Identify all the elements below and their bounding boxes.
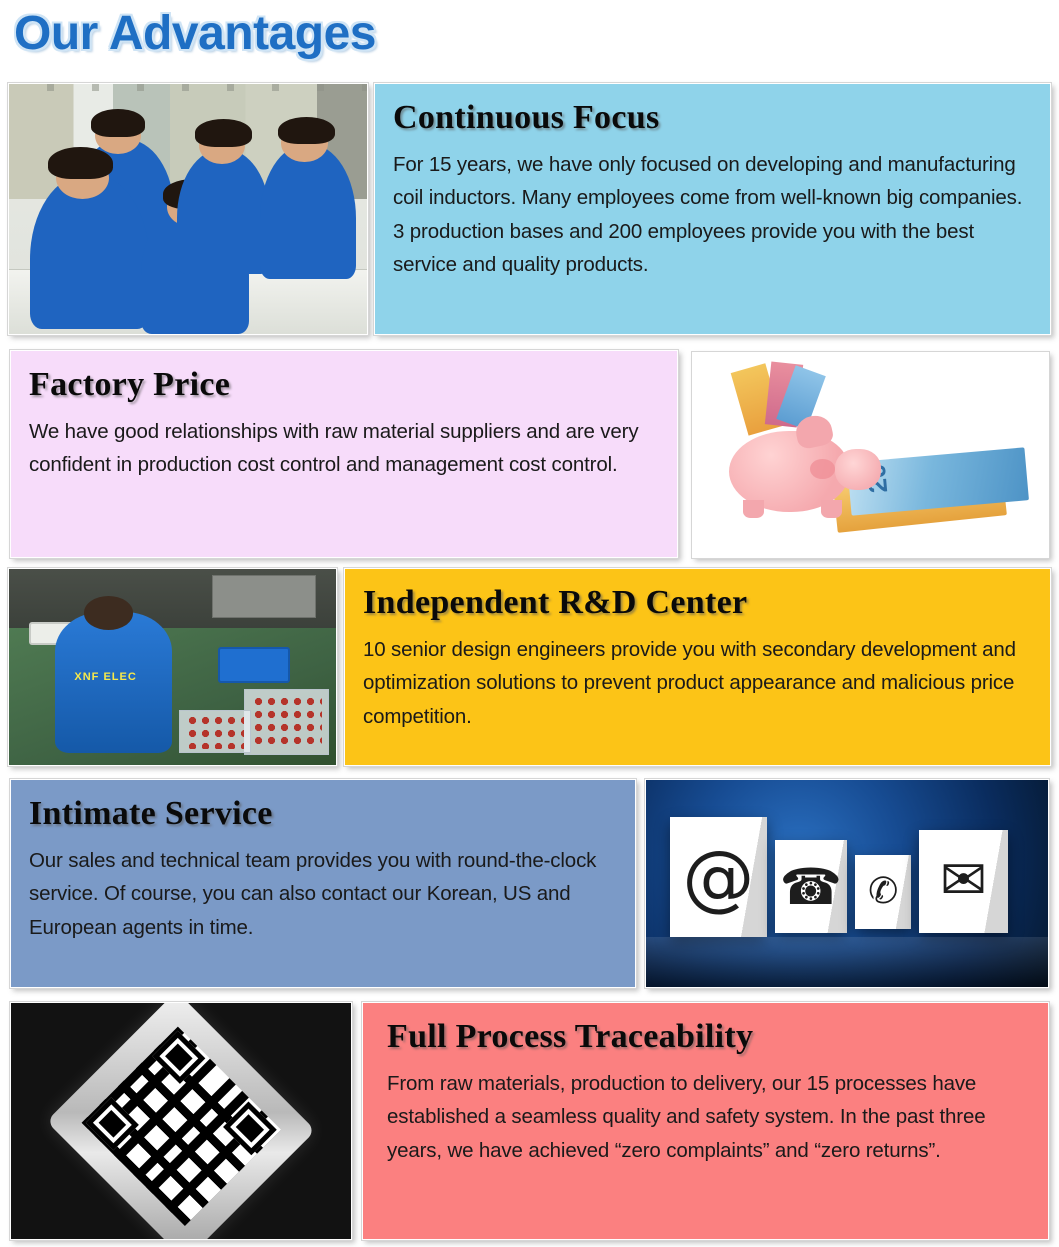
worker-4-hair [195, 119, 252, 147]
worker-5-hair [278, 117, 335, 145]
worker-5 [260, 144, 357, 279]
qr-finder-bottom-left [85, 1096, 139, 1150]
card-title-continuous-focus: Continuous Focus [393, 98, 1032, 138]
card-title-full-process-traceability: Full Process Traceability [387, 1017, 1030, 1057]
at-symbol-cube: @ [670, 817, 766, 937]
card-body-factory-price: We have good relationships with raw mate… [29, 415, 659, 481]
telephone-icon: ☎ [780, 862, 842, 912]
card-body-continuous-focus: For 15 years, we have only focused on de… [393, 148, 1032, 281]
component-tray-right [244, 689, 329, 756]
component-tray-center [179, 710, 251, 753]
mobile-phone-icon: ✆ [868, 874, 898, 910]
blue-parts-bin [218, 647, 290, 682]
team-photo-inner [9, 84, 367, 334]
qr-finder-top-left [152, 1030, 206, 1084]
worker-1-hair [91, 109, 145, 137]
seated-worker-head [84, 596, 133, 629]
card-body-full-process-traceability: From raw materials, production to delive… [387, 1067, 1030, 1167]
uniform-logo: XNF ELEC [74, 671, 136, 683]
metal-shelf [212, 575, 317, 618]
component-dots [252, 695, 322, 749]
at-symbol-icon: @ [682, 841, 754, 913]
qr-finder-top-right [223, 1101, 277, 1155]
qr-photo-inner [11, 1003, 351, 1239]
card-body-independent-rd-center: 10 senior design engineers provide you w… [363, 633, 1032, 733]
contact-icon-cubes: @ ☎ ✆ ✉ [645, 779, 1049, 988]
page-title: Our Advantages [14, 6, 376, 61]
component-dots [186, 714, 245, 749]
factory-team-photo [8, 83, 368, 335]
piggy-bank-with-euro-banknotes: 20 [692, 352, 1049, 558]
card-factory-price: Factory Price We have good relationships… [10, 350, 678, 558]
cube-reflection [646, 937, 1048, 987]
piggy-bank-leg-back [743, 500, 764, 518]
qr-code-pattern [81, 1026, 280, 1225]
cubes-photo-inner: @ ☎ ✆ ✉ [646, 780, 1048, 987]
piggy-bank-snout [835, 449, 881, 490]
envelope-icon: ✉ [940, 853, 987, 909]
mobile-phone-cube: ✆ [855, 855, 911, 930]
silver-diamond-frame [46, 1003, 316, 1239]
worker-4 [177, 149, 270, 274]
piggy-photo-inner: 20 [693, 353, 1048, 557]
card-independent-rd-center: Independent R&D Center 10 senior design … [344, 568, 1051, 766]
bench-photo-inner: XNF ELEC [9, 569, 336, 765]
assembly-line-worker-photo: XNF ELEC [8, 568, 337, 766]
envelope-cube: ✉ [919, 830, 1007, 934]
piggy-bank-leg-front [821, 500, 842, 518]
card-title-intimate-service: Intimate Service [29, 794, 617, 834]
card-title-factory-price: Factory Price [29, 365, 659, 405]
telephone-cube: ☎ [775, 840, 847, 933]
card-intimate-service: Intimate Service Our sales and technical… [10, 779, 636, 988]
card-continuous-focus: Continuous Focus For 15 years, we have o… [374, 83, 1051, 335]
card-full-process-traceability: Full Process Traceability From raw mater… [362, 1002, 1049, 1240]
qr-code-tag [10, 1002, 352, 1240]
worker-2-hair [48, 147, 112, 180]
card-body-intimate-service: Our sales and technical team provides yo… [29, 844, 617, 944]
card-title-independent-rd-center: Independent R&D Center [363, 583, 1032, 623]
